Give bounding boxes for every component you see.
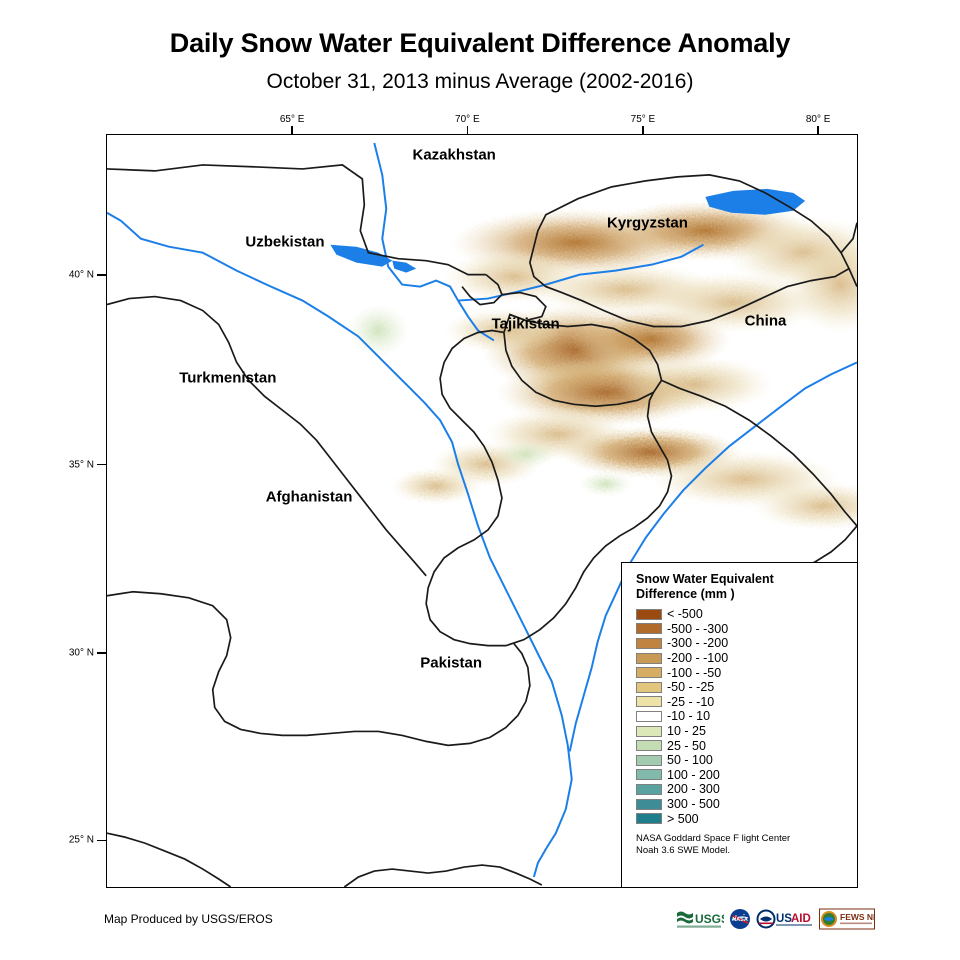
country-label-china: China [745, 312, 787, 329]
legend-item: -10 - 10 [636, 709, 857, 724]
swe-anomaly-raster [348, 201, 857, 530]
legend-title: Snow Water Equivalent Difference (mm ) [636, 572, 836, 602]
lat-tick-2 [97, 652, 106, 654]
lon-label-1: 70° E [455, 114, 480, 125]
lat-label-3: 25° N [52, 835, 94, 846]
legend-swatch [636, 609, 662, 620]
page-subtitle: October 31, 2013 minus Average (2002-201… [0, 70, 960, 94]
legend-item: -200 - -100 [636, 651, 857, 666]
country-label-tajikistan: Tajikistan [492, 316, 560, 333]
legend-swatch [636, 667, 662, 678]
legend-source-line1: NASA Goddard Space F light Center [636, 833, 857, 846]
svg-text:NASA: NASA [732, 917, 748, 923]
legend-source-line2: Noah 3.6 SWE Model. [636, 845, 857, 858]
legend-swatch [636, 740, 662, 751]
legend-label: < -500 [667, 608, 703, 620]
legend-label: 25 - 50 [667, 740, 706, 752]
legend-label: -25 - -10 [667, 696, 714, 708]
legend-label: 10 - 25 [667, 725, 706, 737]
lon-label-0: 65° E [280, 114, 305, 125]
legend-swatch [636, 638, 662, 649]
lat-tick-3 [97, 840, 106, 842]
legend-swatch [636, 813, 662, 824]
legend-title-line2: Difference (mm ) [636, 587, 836, 602]
legend-item: 50 - 100 [636, 753, 857, 768]
legend-swatch [636, 784, 662, 795]
legend-item-list: < -500-500 - -300-300 - -200-200 - -100-… [636, 607, 857, 826]
legend-swatch [636, 653, 662, 664]
legend-label: -10 - 10 [667, 710, 710, 722]
legend-swatch [636, 696, 662, 707]
legend-item: -50 - -25 [636, 680, 857, 695]
legend-item: > 500 [636, 811, 857, 826]
usaid-logo: US AID [756, 908, 814, 930]
legend-label: -100 - -50 [667, 667, 721, 679]
legend-title-line1: Snow Water Equivalent [636, 572, 836, 587]
legend-swatch [636, 682, 662, 693]
lat-label-2: 30° N [52, 647, 94, 658]
lon-label-3: 80° E [806, 114, 831, 125]
map-credit: Map Produced by USGS/EROS [104, 912, 273, 926]
country-label-afghanistan: Afghanistan [266, 489, 353, 506]
lat-label-1: 35° N [52, 459, 94, 470]
legend-label: 300 - 500 [667, 798, 720, 810]
legend-label: 100 - 200 [667, 769, 720, 781]
lat-tick-1 [97, 464, 106, 466]
legend-item: -500 - -300 [636, 622, 857, 637]
svg-text:AID: AID [791, 913, 811, 925]
legend-item: -300 - -200 [636, 636, 857, 651]
country-label-pakistan: Pakistan [420, 655, 482, 672]
legend-item: -100 - -50 [636, 665, 857, 680]
agency-logos: USGS NASA US AID FEWS [676, 904, 860, 934]
legend-swatch [636, 711, 662, 722]
lat-label-0: 40° N [52, 269, 94, 280]
legend-item: 10 - 25 [636, 724, 857, 739]
legend-item: -25 - -10 [636, 695, 857, 710]
country-label-kazakhstan: Kazakhstan [412, 147, 495, 164]
svg-text:US: US [776, 913, 792, 925]
nasa-logo: NASA [729, 908, 751, 930]
svg-text:USGS: USGS [695, 912, 724, 926]
legend-swatch [636, 726, 662, 737]
legend-swatch [636, 755, 662, 766]
country-label-kyrgyzstan: Kyrgyzstan [607, 214, 688, 231]
legend-label: 50 - 100 [667, 754, 713, 766]
legend-label: -50 - -25 [667, 681, 714, 693]
lon-label-2: 75° E [631, 114, 656, 125]
fewsnet-logo: FEWS NET [819, 908, 875, 930]
legend-swatch [636, 623, 662, 634]
legend-source: NASA Goddard Space F light Center Noah 3… [636, 833, 857, 858]
legend-item: 300 - 500 [636, 797, 857, 812]
legend-item: 200 - 300 [636, 782, 857, 797]
legend-swatch [636, 769, 662, 780]
map-legend: Snow Water Equivalent Difference (mm ) <… [621, 562, 858, 888]
legend-label: > 500 [667, 813, 699, 825]
usgs-logo: USGS [676, 908, 724, 930]
legend-label: -500 - -300 [667, 623, 728, 635]
legend-label: -200 - -100 [667, 652, 728, 664]
svg-text:FEWS NET: FEWS NET [840, 912, 875, 922]
legend-item: < -500 [636, 607, 857, 622]
page-title: Daily Snow Water Equivalent Difference A… [0, 28, 960, 59]
legend-item: 100 - 200 [636, 768, 857, 783]
country-label-turkmenistan: Turkmenistan [179, 369, 276, 386]
country-label-uzbekistan: Uzbekistan [245, 233, 324, 250]
lat-tick-0 [97, 274, 106, 276]
legend-label: -300 - -200 [667, 637, 728, 649]
legend-item: 25 - 50 [636, 738, 857, 753]
legend-swatch [636, 799, 662, 810]
legend-label: 200 - 300 [667, 783, 720, 795]
